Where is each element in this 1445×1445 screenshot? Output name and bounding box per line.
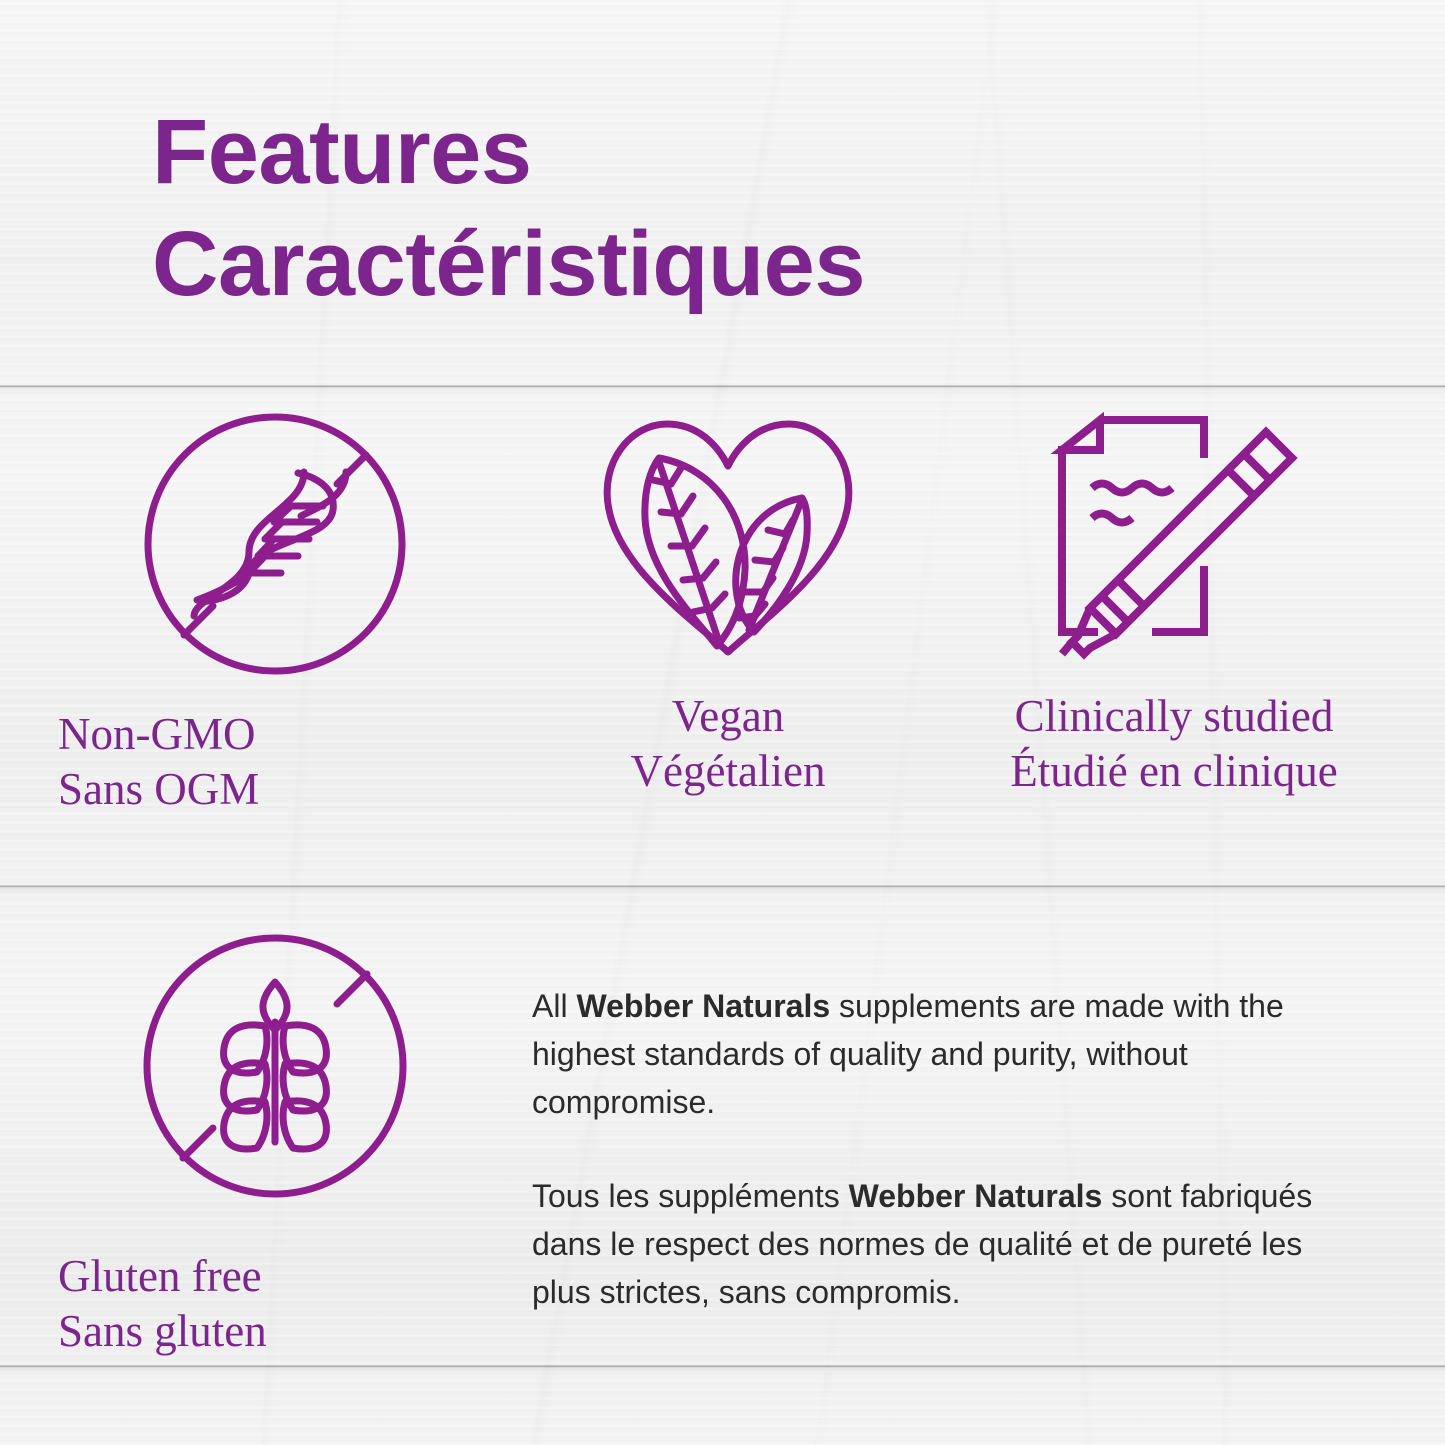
brand-copy-fr: Tous les suppléments Webber Naturals son…: [532, 1172, 1322, 1316]
page-title: Features Caractéristiques: [152, 96, 865, 320]
feature-label-clinically-studied-en: Clinically studied: [1010, 689, 1337, 744]
page-title-fr: Caractéristiques: [152, 208, 865, 320]
feature-gluten-free: Gluten free Sans gluten: [40, 930, 510, 1359]
brand-name-fr: Webber Naturals: [849, 1178, 1103, 1214]
feature-row-bottom: Gluten free Sans gluten All Webber Natur…: [0, 930, 1445, 1359]
feature-label-vegan-fr: Végétalien: [631, 744, 826, 799]
feature-label-non-gmo-en: Non-GMO: [58, 707, 259, 762]
brand-copy-en: All Webber Naturals supplements are made…: [532, 982, 1322, 1126]
feature-label-non-gmo-fr: Sans OGM: [58, 762, 259, 817]
no-gmo-dna-icon: [141, 410, 409, 683]
feature-non-gmo: Non-GMO Sans OGM: [40, 410, 510, 817]
feature-label-non-gmo: Non-GMO Sans OGM: [58, 707, 259, 817]
feature-label-gluten-free-fr: Sans gluten: [58, 1304, 267, 1359]
feature-label-gluten-free-en: Gluten free: [58, 1249, 267, 1304]
brand-copy-fr-lead: Tous les suppléments: [532, 1178, 849, 1214]
feature-label-clinically-studied-fr: Étudié en clinique: [1010, 744, 1337, 799]
feature-clinically-studied: Clinically studied Étudié en clinique: [954, 410, 1394, 799]
feature-row-top: Non-GMO Sans OGM: [0, 410, 1445, 817]
feature-label-vegan-en: Vegan: [631, 689, 826, 744]
feature-label-vegan: Vegan Végétalien: [631, 689, 826, 799]
no-wheat-icon: [139, 930, 411, 1207]
brand-name-en: Webber Naturals: [576, 988, 830, 1024]
heart-leaves-icon: [597, 410, 859, 665]
document-pen-icon: [1040, 410, 1308, 665]
feature-vegan: Vegan Végétalien: [528, 410, 928, 799]
brand-copy-en-lead: All: [532, 988, 576, 1024]
page-title-en: Features: [152, 96, 865, 208]
brand-copy: All Webber Naturals supplements are made…: [532, 982, 1322, 1316]
feature-label-clinically-studied: Clinically studied Étudié en clinique: [1010, 689, 1337, 799]
feature-label-gluten-free: Gluten free Sans gluten: [58, 1249, 267, 1359]
feature-infographic: Features Caractéristiques: [0, 0, 1445, 1445]
